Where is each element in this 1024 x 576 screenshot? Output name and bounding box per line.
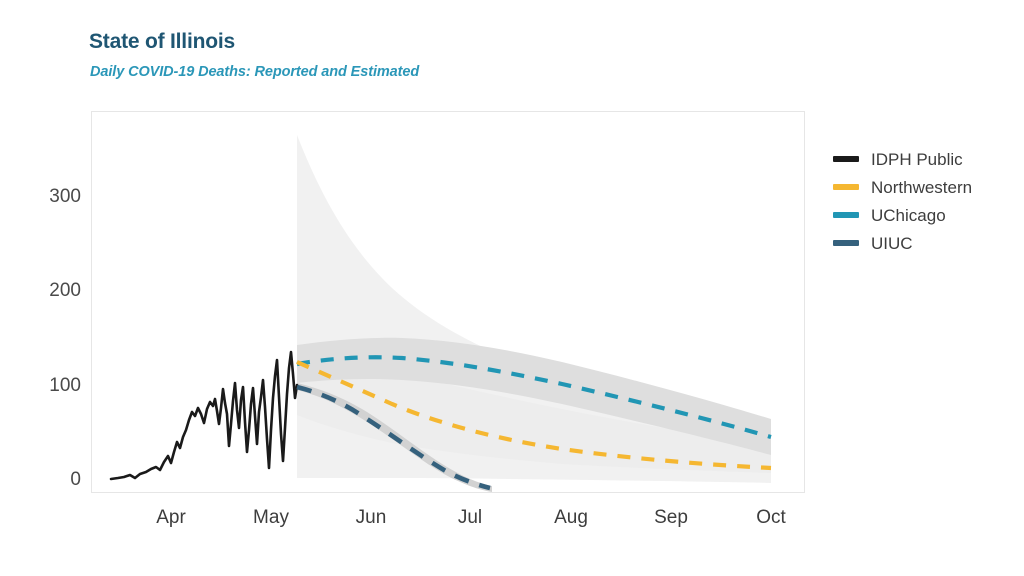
legend-swatch-northwestern: [833, 184, 859, 190]
legend-item-uiuc[interactable]: UIUC: [833, 229, 1013, 257]
covid-deaths-chart: State of Illinois Daily COVID-19 Deaths:…: [0, 0, 1024, 576]
y-tick-300: 300: [11, 187, 81, 206]
legend-item-northwestern[interactable]: Northwestern: [833, 173, 1013, 201]
legend-swatch-idph-public: [833, 156, 859, 162]
page-title: State of Illinois: [89, 30, 235, 54]
y-tick-200: 200: [11, 281, 81, 300]
chart-subtitle: Daily COVID-19 Deaths: Reported and Esti…: [90, 64, 419, 80]
x-tick-oct: Oct: [756, 508, 786, 527]
legend-label-northwestern: Northwestern: [871, 179, 972, 196]
legend-label-idph-public: IDPH Public: [871, 151, 963, 168]
x-tick-may: May: [253, 508, 289, 527]
x-tick-jun: Jun: [356, 508, 387, 527]
legend-swatch-uiuc: [833, 240, 859, 246]
legend-label-uiuc: UIUC: [871, 235, 913, 252]
series-idph-public-line: [111, 352, 297, 479]
x-tick-sep: Sep: [654, 508, 688, 527]
plot-area: [91, 111, 805, 493]
legend-label-uchicago: UChicago: [871, 207, 946, 224]
legend-item-idph-public[interactable]: IDPH Public: [833, 145, 1013, 173]
y-axis-tick-labels: 300 200 100 0: [9, 0, 81, 576]
x-tick-apr: Apr: [156, 508, 186, 527]
legend-item-uchicago[interactable]: UChicago: [833, 201, 1013, 229]
y-tick-100: 100: [11, 376, 81, 395]
x-tick-jul: Jul: [458, 508, 482, 527]
x-tick-aug: Aug: [554, 508, 588, 527]
legend-swatch-uchicago: [833, 212, 859, 218]
chart-legend: IDPH Public Northwestern UChicago UIUC: [833, 145, 1013, 257]
plot-svg: [92, 112, 804, 492]
y-tick-0: 0: [11, 470, 81, 489]
x-axis-tick-labels: Apr May Jun Jul Aug Sep Oct: [0, 508, 1024, 538]
